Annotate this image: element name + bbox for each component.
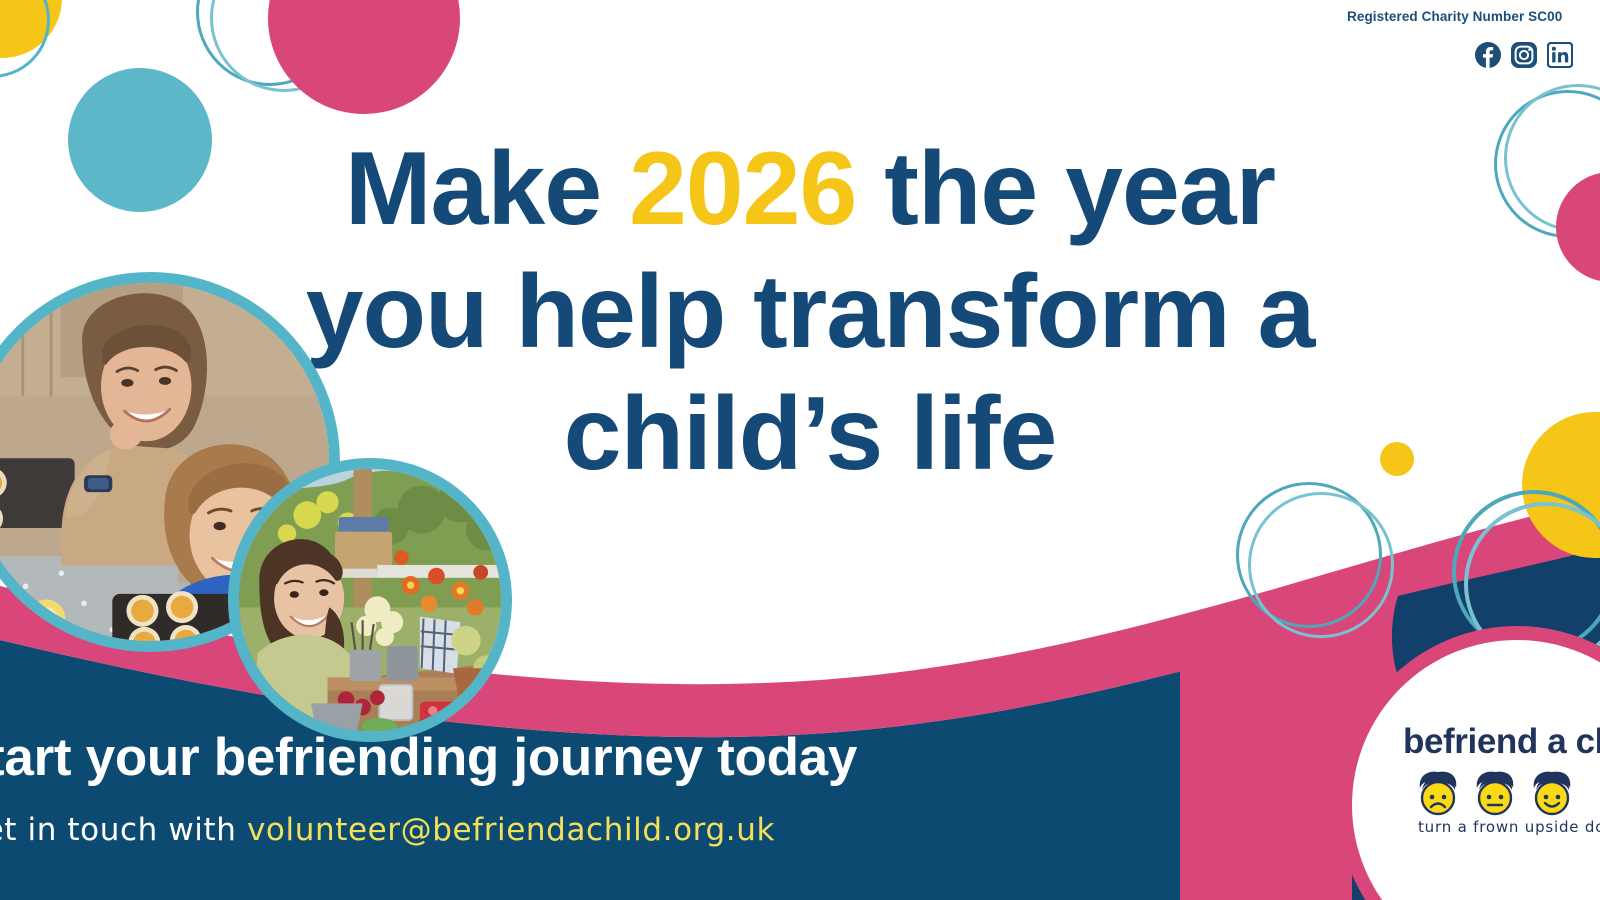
headline-part1: Make xyxy=(345,131,629,247)
deco-ring-teal-topleft xyxy=(0,0,50,78)
linkedin-icon[interactable] xyxy=(1547,42,1573,68)
contact-prefix: Get in touch with xyxy=(0,812,247,848)
page-title: Make 2026 the year you help transform a … xyxy=(300,128,1320,496)
logo-tagline: turn a frown upside down xyxy=(1418,818,1600,836)
logo-title: befriend a child xyxy=(1403,722,1600,762)
face-neutral-icon xyxy=(1469,768,1521,820)
social-links xyxy=(1475,42,1573,68)
promo-banner: Registered Charity Number SC00 xyxy=(0,0,1600,900)
face-sad-icon xyxy=(1412,768,1464,820)
deco-circle-teal-left xyxy=(68,68,212,212)
face-happy-icon xyxy=(1526,768,1578,820)
photo-garden xyxy=(228,458,512,742)
deco-dot-yellow xyxy=(1380,442,1414,476)
cta-headline: Start your befriending journey today xyxy=(0,727,857,788)
deco-ring-teal-mid-b xyxy=(1248,492,1394,638)
logo-faces xyxy=(1412,768,1578,820)
deco-circle-pink-top xyxy=(268,0,460,114)
facebook-icon[interactable] xyxy=(1475,42,1501,68)
headline-year: 2026 xyxy=(629,131,856,247)
volunteer-email-link[interactable]: volunteer@befriendachild.org.uk xyxy=(247,812,775,848)
contact-line: Get in touch with volunteer@befriendachi… xyxy=(0,812,775,848)
charity-number-text: Registered Charity Number SC00 xyxy=(1347,9,1562,24)
instagram-icon[interactable] xyxy=(1511,42,1537,68)
